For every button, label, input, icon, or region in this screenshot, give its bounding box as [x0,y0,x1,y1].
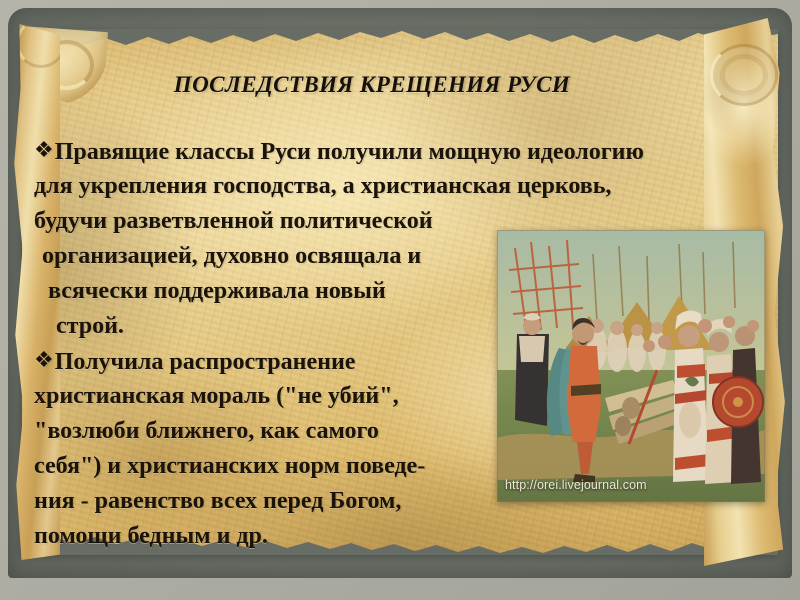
slide-root: ПОСЛЕДСТВИЯ КРЕЩЕНИЯ РУСИ ❖Правящие клас… [0,0,800,600]
bullet-diamond-icon: ❖ [34,347,54,372]
text-line: для укрепления господства, а христианска… [34,169,770,204]
text-line-content: ния - равенство всех перед Богом, [34,488,401,514]
text-line: помощи бедным и др. [34,519,770,554]
text-line-content: строй. [56,313,124,339]
slide-content: ПОСЛЕДСТВИЯ КРЕЩЕНИЯ РУСИ ❖Правящие клас… [22,16,770,540]
text-line-content: Получила распространение [55,349,356,375]
text-line-content: всячески поддерживала новый [48,278,386,304]
text-line-content: "возлюби ближнего, как самого [34,418,379,444]
text-line-content: организацией, духовно освящала и [42,243,421,269]
bullet-diamond-icon: ❖ [34,137,54,162]
image-watermark: http://orei.livejournal.com [505,478,647,492]
text-line-content: христианская мораль ("не убий", [34,383,399,409]
text-line-content: Правящие классы Руси получили мощную иде… [55,139,644,165]
text-line-content: помощи бедным и др. [34,523,268,549]
text-line: ❖Правящие классы Руси получили мощную ид… [34,134,770,169]
text-line-content: для укрепления господства, а христианска… [34,173,611,199]
historical-painting: http://orei.livejournal.com [497,230,765,502]
text-line-content: будучи разветвленной политической [34,208,433,234]
text-line-content: себя") и христианских норм поведе- [34,453,425,479]
page-title: ПОСЛЕДСТВИЯ КРЕЩЕНИЯ РУСИ [22,72,722,98]
painting-artwork [497,230,765,502]
